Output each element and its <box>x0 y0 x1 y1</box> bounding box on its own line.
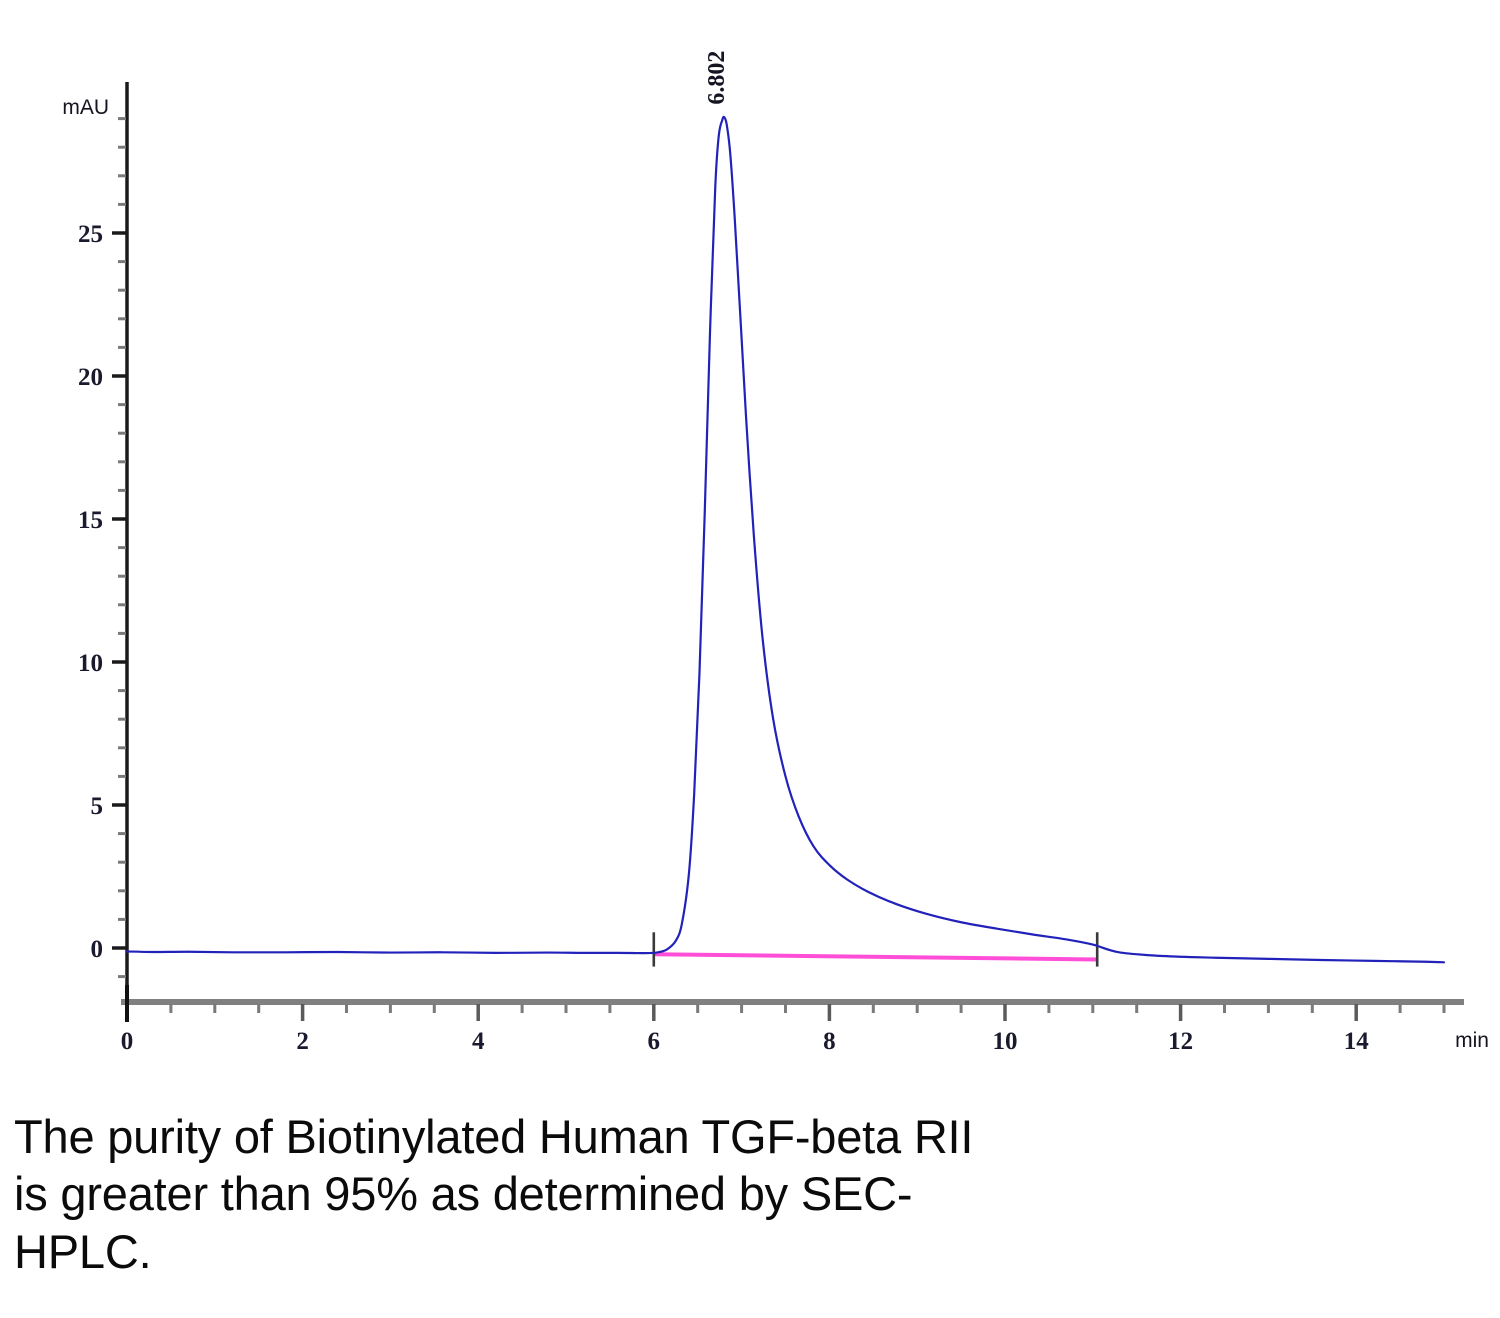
y-axis-tick-label: 0 <box>91 936 104 963</box>
x-axis-tick-label: 4 <box>472 1028 485 1055</box>
chromatogram-figure: 0510152025mAU02468101214min6.802 The pur… <box>0 0 1500 1318</box>
y-axis-tick-label: 10 <box>78 650 103 677</box>
uv-trace-line <box>127 117 1444 962</box>
caption-line-1: The purity of Biotinylated Human TGF-bet… <box>14 1108 1264 1165</box>
chart-canvas: 0510152025mAU02468101214min6.802 <box>0 0 1500 1080</box>
sec-hplc-chart: 0510152025mAU02468101214min6.802 <box>0 0 1500 1080</box>
x-axis-tick-label: 0 <box>121 1028 134 1055</box>
figure-caption: The purity of Biotinylated Human TGF-bet… <box>14 1108 1264 1280</box>
x-axis-tick-label: 14 <box>1344 1028 1370 1055</box>
x-axis-unit-label: min <box>1455 1029 1489 1052</box>
peak-retention-time-label: 6.802 <box>704 51 730 105</box>
y-axis-tick-label: 20 <box>78 364 103 391</box>
y-axis-tick-label: 5 <box>91 793 104 820</box>
y-axis-tick-label: 25 <box>78 221 103 248</box>
integration-baseline <box>654 954 1097 959</box>
x-axis-tick-label: 6 <box>648 1028 661 1055</box>
x-axis-tick-label: 8 <box>823 1028 836 1055</box>
caption-line-3: HPLC. <box>14 1223 1264 1280</box>
y-axis-tick-label: 15 <box>78 507 103 534</box>
x-axis-tick-label: 12 <box>1168 1028 1193 1055</box>
y-axis-unit-label: mAU <box>62 96 109 119</box>
x-axis-tick-label: 10 <box>993 1028 1018 1055</box>
x-axis-tick-label: 2 <box>296 1028 309 1055</box>
caption-line-2: is greater than 95% as determined by SEC… <box>14 1165 1264 1222</box>
